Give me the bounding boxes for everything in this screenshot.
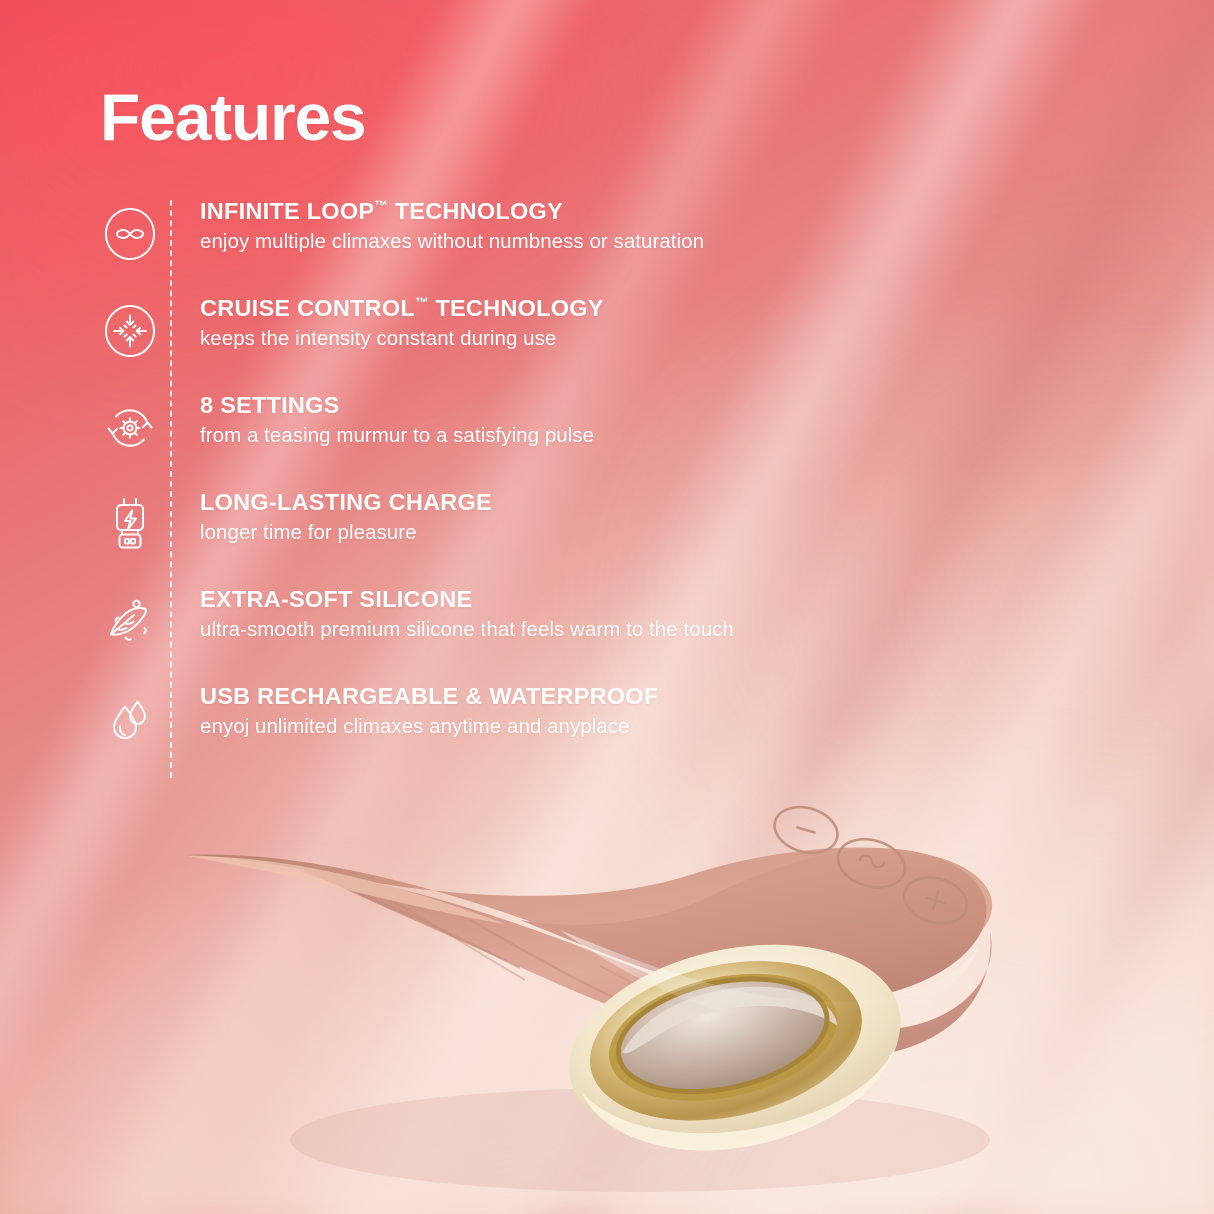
page-title: Features [100,84,366,150]
product-image [0,780,1214,1214]
feature-item: USB RECHARGEABLE & WATERPROOF enyoj unli… [96,681,916,778]
feature-item: EXTRA-SOFT SILICONE ultra-smooth premium… [96,584,916,681]
feature-subtitle: ultra-smooth premium silicone that feels… [200,618,916,643]
feature-title: CRUISE CONTROL™ TECHNOLOGY [200,295,916,322]
feature-subtitle: longer time for pleasure [200,521,916,546]
feather-icon [96,590,164,654]
gear-refresh-icon [96,396,164,460]
feature-subtitle: enjoy multiple climaxes without numbness… [200,230,916,255]
feature-item: LONG-LASTING CHARGE longer time for plea… [96,487,916,584]
feature-text: EXTRA-SOFT SILICONE ultra-smooth premium… [200,586,916,643]
feature-item: INFINITE LOOP™ TECHNOLOGY enjoy multiple… [96,196,916,293]
feature-title: EXTRA-SOFT SILICONE [200,586,916,613]
water-drops-icon [96,687,164,751]
feature-subtitle: keeps the intensity constant during use [200,327,916,352]
feature-poster: Features INFINITE LOOP™ TECHNOLOGY enjoy… [0,0,1214,1214]
feature-title: INFINITE LOOP™ TECHNOLOGY [200,198,916,225]
feature-title: USB RECHARGEABLE & WATERPROOF [200,683,916,710]
feature-text: CRUISE CONTROL™ TECHNOLOGY keeps the int… [200,295,916,352]
feature-title: LONG-LASTING CHARGE [200,489,916,516]
feature-text: USB RECHARGEABLE & WATERPROOF enyoj unli… [200,683,916,740]
infinity-circle-icon [96,202,164,266]
arrows-converge-circle-icon [96,299,164,363]
feature-subtitle: enyoj unlimited climaxes anytime and any… [200,715,916,740]
feature-text: INFINITE LOOP™ TECHNOLOGY enjoy multiple… [200,198,916,255]
feature-subtitle: from a teasing murmur to a satisfying pu… [200,424,916,449]
feature-title: 8 SETTINGS [200,392,916,419]
feature-text: LONG-LASTING CHARGE longer time for plea… [200,489,916,546]
features-list: INFINITE LOOP™ TECHNOLOGY enjoy multiple… [96,196,916,778]
feature-text: 8 SETTINGS from a teasing murmur to a sa… [200,392,916,449]
feature-item: CRUISE CONTROL™ TECHNOLOGY keeps the int… [96,293,916,390]
feature-item: 8 SETTINGS from a teasing murmur to a sa… [96,390,916,487]
charger-bolt-icon [96,493,164,557]
